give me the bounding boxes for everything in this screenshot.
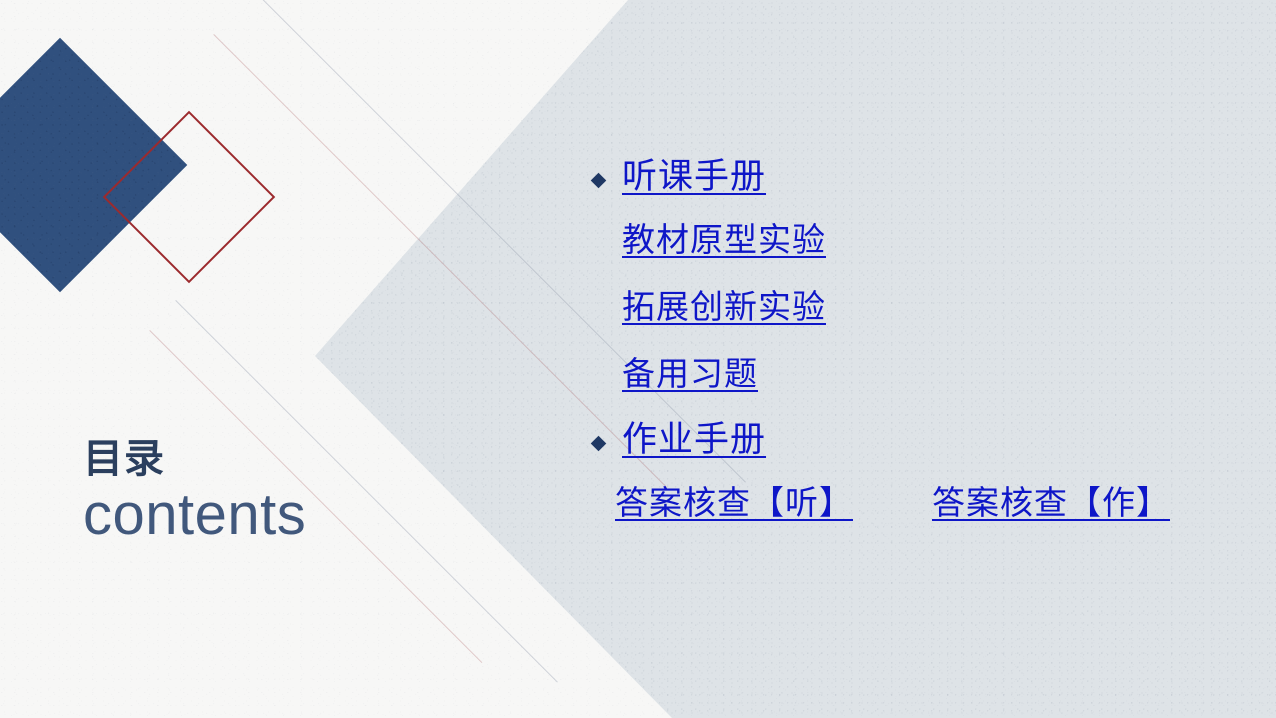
toc-item-listening-manual[interactable]: 听课手册	[560, 150, 1260, 212]
toc-item-extended-innovation-experiment[interactable]: 拓展创新实验	[560, 279, 1260, 346]
toc-link-textbook-prototype-experiment[interactable]: 教材原型实验	[622, 218, 826, 262]
toc-link-answer-check-homework[interactable]: 答案核查【作】	[932, 481, 1170, 525]
page-title-english: contents	[83, 484, 306, 546]
diamond-bullet-icon	[591, 173, 607, 189]
toc-link-spare-exercises[interactable]: 备用习题	[622, 352, 758, 396]
toc-item-spare-exercises[interactable]: 备用习题	[560, 346, 1260, 413]
toc-answer-check-row: 答案核查【听】 答案核查【作】	[560, 475, 1260, 545]
page-title-chinese: 目录	[83, 436, 306, 482]
diamond-bullet-icon	[591, 436, 607, 452]
page-title: 目录 contents	[83, 436, 306, 546]
toc-list: 听课手册 教材原型实验 拓展创新实验 备用习题 作业手册 答案核查【听】 答案核…	[560, 150, 1260, 545]
toc-link-homework-manual[interactable]: 作业手册	[622, 417, 766, 463]
toc-link-extended-innovation-experiment[interactable]: 拓展创新实验	[622, 285, 826, 329]
toc-item-homework-manual[interactable]: 作业手册	[560, 413, 1260, 475]
slide-canvas: 目录 contents 听课手册 教材原型实验 拓展创新实验 备用习题 作业手册…	[0, 0, 1276, 718]
toc-link-listening-manual[interactable]: 听课手册	[622, 154, 766, 200]
toc-item-textbook-prototype-experiment[interactable]: 教材原型实验	[560, 212, 1260, 279]
toc-link-answer-check-listening[interactable]: 答案核查【听】	[615, 481, 853, 525]
